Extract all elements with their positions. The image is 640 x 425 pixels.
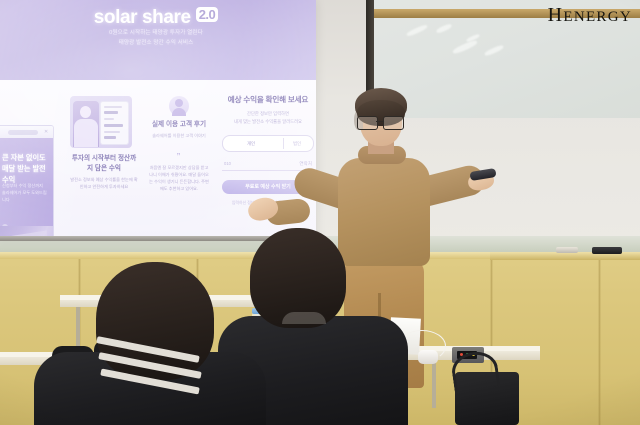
review-heading: 실제 이용 고객 후기 [148,120,210,130]
phone-headline: 큰 자본 없이도 매달 받는 발전 수익 [2,152,47,185]
slide-subtitle-line2: 태양광 발전소 망간 수익 서비스 [0,38,316,46]
feature-heading: 투자의 시작부터 정산까지 담은 수익 [70,154,138,174]
phone-hero: 큰 자본 없이도 매달 받는 발전 수익 신청부터 수익 정산까지 솔라쉐어가 … [0,138,53,238]
ledge-object [556,247,578,253]
person-photo [73,101,99,147]
slide-brand-logo: solar share2.0 [0,7,316,29]
close-icon[interactable]: ✕ [44,130,49,135]
segment-option-left[interactable]: 개인 [247,141,255,147]
review-subtext: 솔라쉐어를 이용한 고객 이야기 [148,133,210,140]
phone-input-placeholder: 010 [224,161,231,166]
desk-leg [432,360,436,408]
phone-header-pill [8,130,38,135]
watermark-lead: H [548,4,564,26]
slide-header: solar share2.0 0원으로 시작하는 태양광 투자가 열린다 태양광… [0,0,316,80]
quote-mark-icon: ” [148,152,210,161]
presenter-sweater [338,158,430,266]
feature-card-image [70,96,132,148]
slide-column-review: 실제 이용 고객 후기 솔라쉐어를 이용한 고객 이야기 ” 처음엔 잘 모르겠… [148,96,210,192]
eyeglasses-icon [357,116,404,128]
brand-name: solar share [94,7,191,28]
slide-subtitle-line1: 0원으로 시작하는 태양광 투자가 열린다 [0,28,316,36]
feature-body: 발전소 정보와 예상 수익률을 한눈에 확인하고 안전하게 투자하세요 [70,177,138,190]
user-avatar-icon [169,96,189,116]
watermark-rest: ENERGY [563,9,632,25]
screenshot-root: solar share2.0 0원으로 시작하는 태양광 투자가 열린다 태양광… [0,0,640,425]
review-body: 처음엔 잘 모르겠지만 상담을 받고 나니 이해가 쉬웠어요. 매달 들어오는 … [148,164,210,192]
henergy-watermark: HENERGY [548,8,632,25]
slide-column-feature: 투자의 시작부터 정산까지 담은 수익 발전소 정보와 예상 수익률을 한눈에 … [70,96,138,190]
phone-mockup: ✕ 큰 자본 없이도 매달 받는 발전 수익 신청부터 수익 정산까지 솔라쉐어… [0,125,54,238]
info-panel [100,101,129,145]
phone-subtext: 신청부터 수익 정산까지 솔라쉐어가 모두 도와드립니다 [2,182,47,203]
brand-version-badge: 2.0 [196,7,219,22]
ledge-object [592,247,622,254]
